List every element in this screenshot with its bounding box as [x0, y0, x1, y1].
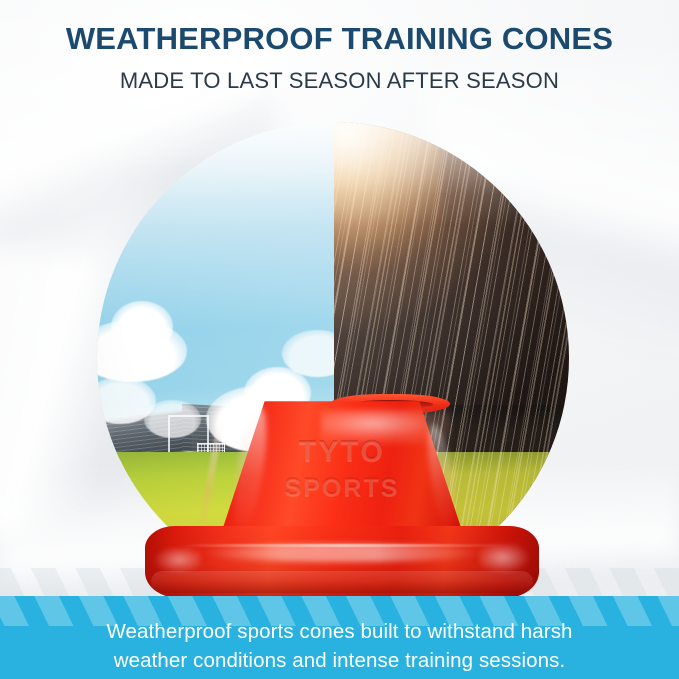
cone-highlight: [479, 544, 531, 574]
cone-highlight: [153, 548, 201, 574]
banner-line-2: weather conditions and intense training …: [0, 646, 679, 675]
banner-line-1: Weatherproof sports cones built to withs…: [0, 617, 679, 646]
page-subtitle: MADE TO LAST SEASON AFTER SEASON: [0, 68, 679, 94]
header-block: WEATHERPROOF TRAINING CONES MADE TO LAST…: [0, 22, 679, 94]
red-training-cone: TYTO SPORTS: [145, 398, 539, 603]
cone-highlight: [203, 544, 483, 562]
cloud: [111, 301, 173, 353]
cone-edge-highlight: [196, 416, 224, 540]
banner-text: Weatherproof sports cones built to withs…: [0, 617, 679, 675]
page-title: WEATHERPROOF TRAINING CONES: [0, 22, 679, 55]
bottom-banner: Weatherproof sports cones built to withs…: [0, 596, 679, 679]
product-infographic: WEATHERPROOF TRAINING CONES MADE TO LAST…: [0, 0, 679, 679]
cone-base-lip: [151, 571, 533, 593]
